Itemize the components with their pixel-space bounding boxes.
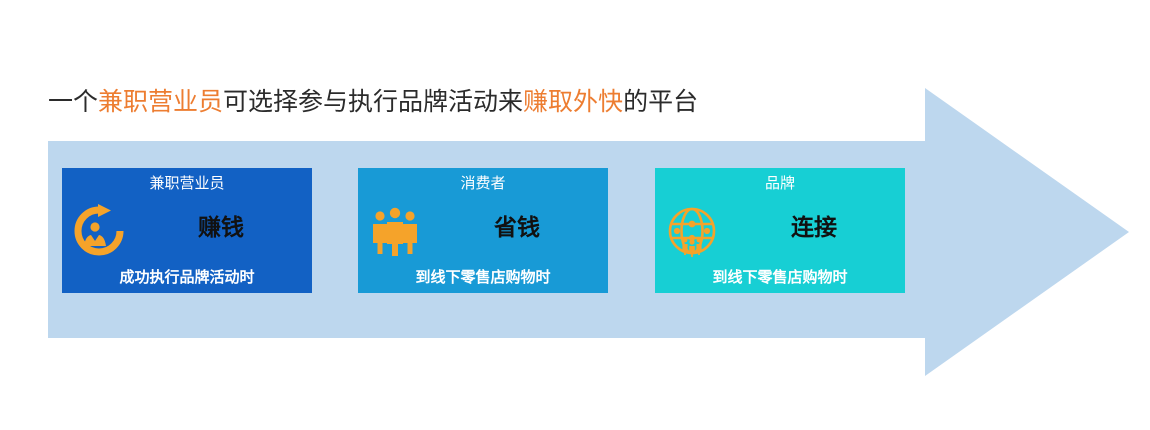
title-segment-0: 一个 <box>48 88 98 116</box>
card-footer: 到线下零售店购物时 <box>655 267 905 288</box>
title-segment-3-highlight: 赚取外快 <box>523 88 623 116</box>
card-brand[interactable]: 品牌 <box>655 168 905 293</box>
slide-canvas: 一个兼职营业员可选择参与执行品牌活动来赚取外快的平台 兼职营业员 赚钱 成功执行… <box>0 0 1150 430</box>
card-headline: 连接 <box>733 212 895 242</box>
title-segment-2: 可选择参与执行品牌活动来 <box>223 88 523 116</box>
card-footer: 到线下零售店购物时 <box>358 267 608 288</box>
three-people-group-icon <box>366 204 424 258</box>
person-circular-arrow-icon <box>70 204 128 258</box>
card-label: 品牌 <box>655 174 905 194</box>
card-label: 消费者 <box>358 174 608 194</box>
card-headline: 省钱 <box>436 212 598 242</box>
title-segment-4: 的平台 <box>623 88 698 116</box>
card-footer: 成功执行品牌活动时 <box>62 267 312 288</box>
globe-network-people-icon <box>663 204 721 258</box>
page-title: 一个兼职营业员可选择参与执行品牌活动来赚取外快的平台 <box>48 86 698 118</box>
card-label: 兼职营业员 <box>62 174 312 194</box>
card-consumer[interactable]: 消费者 省钱 到线下零售店购物时 <box>358 168 608 293</box>
title-segment-1-highlight: 兼职营业员 <box>98 88 223 116</box>
card-headline: 赚钱 <box>140 212 302 242</box>
card-part-time-promoter[interactable]: 兼职营业员 赚钱 成功执行品牌活动时 <box>62 168 312 293</box>
